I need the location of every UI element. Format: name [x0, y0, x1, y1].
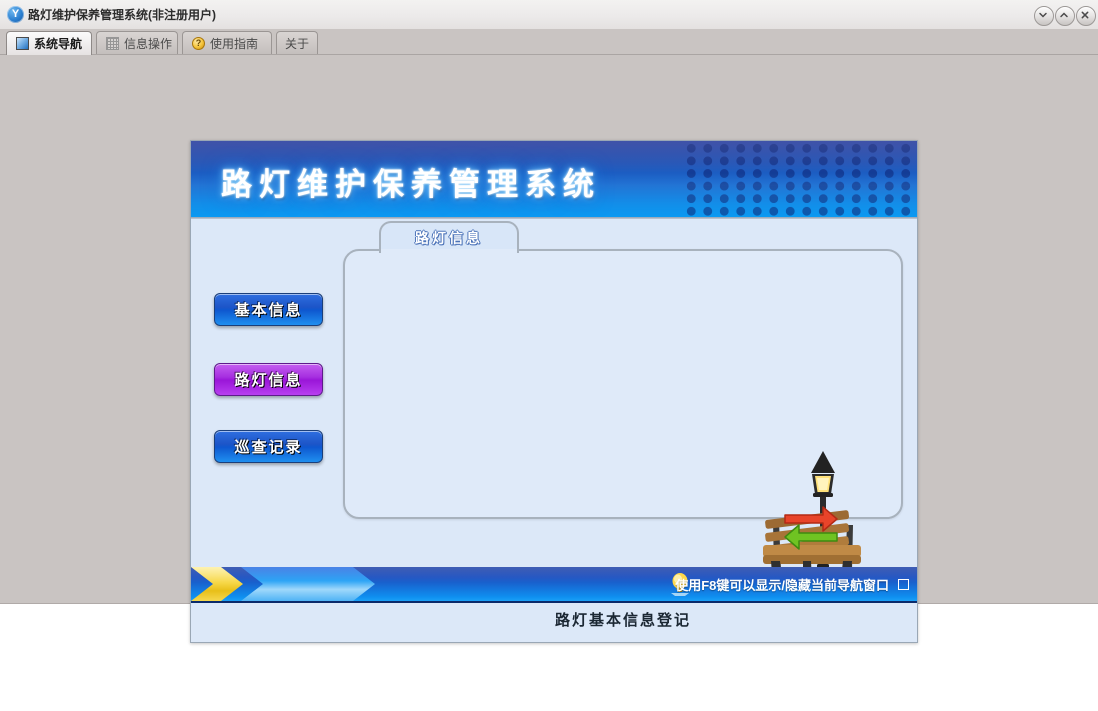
chevron-down-icon [1038, 10, 1048, 20]
window-title: 路灯维护保养管理系统(非注册用户) [28, 6, 216, 23]
app-logo-glyph: Y [7, 6, 24, 23]
nav-button-label: 基本信息 [234, 299, 302, 320]
tab-label: 系统导航 [34, 35, 82, 52]
tab-about[interactable]: 关于 [276, 31, 318, 54]
status-bar-marker [898, 579, 909, 590]
grid-table-icon [106, 37, 119, 50]
nav-button-label: 路灯信息 [234, 369, 302, 390]
tab-info-operations[interactable]: 信息操作 [96, 31, 178, 54]
chevron-up-icon [1059, 10, 1069, 20]
nav-button-basic-info[interactable]: 基本信息 [214, 293, 323, 326]
help-question-icon: ? [192, 37, 205, 50]
tab-label: 使用指南 [210, 35, 258, 52]
tab-bar: 系统导航 信息操作 ? 使用指南 关于 [0, 29, 1098, 55]
client-area: 路灯维护保养管理系统 基本信息 路灯信息 巡查记录 路灯信息 [0, 55, 1098, 603]
frame-tab-seam [381, 249, 517, 253]
nav-button-streetlamp-info[interactable]: 路灯信息 [214, 363, 323, 396]
navigation-panel: 路灯维护保养管理系统 基本信息 路灯信息 巡查记录 路灯信息 [190, 140, 918, 643]
close-button[interactable] [1076, 6, 1096, 26]
tab-system-navigation[interactable]: 系统导航 [6, 31, 92, 55]
navigation-square-icon [16, 37, 29, 50]
minimize-button[interactable] [1034, 6, 1054, 26]
nav-button-label: 巡查记录 [234, 436, 302, 457]
tab-user-guide[interactable]: ? 使用指南 [182, 31, 272, 54]
content-frame-tab-label: 路灯信息 [415, 228, 483, 248]
title-bar: Y 路灯维护保养管理系统(非注册用户) [0, 0, 1098, 30]
status-hint-text: 使用F8键可以显示/隐藏当前导航窗口 [675, 575, 889, 594]
banner-title: 路灯维护保养管理系统 [221, 159, 601, 204]
app-logo-icon: Y [7, 6, 24, 23]
app-banner: 路灯维护保养管理系统 [191, 141, 917, 217]
status-bar: 使用F8键可以显示/隐藏当前导航窗口 [191, 567, 917, 603]
close-x-icon [1080, 10, 1090, 20]
application-window: Y 路灯维护保养管理系统(非注册用户) 系统导航 信息操作 [0, 0, 1098, 604]
nav-button-inspection-records[interactable]: 巡查记录 [214, 430, 323, 463]
tab-label: 信息操作 [124, 35, 172, 52]
maximize-button[interactable] [1055, 6, 1075, 26]
illustration-caption: 路灯基本信息登记 [343, 609, 903, 630]
tab-label: 关于 [285, 35, 309, 52]
